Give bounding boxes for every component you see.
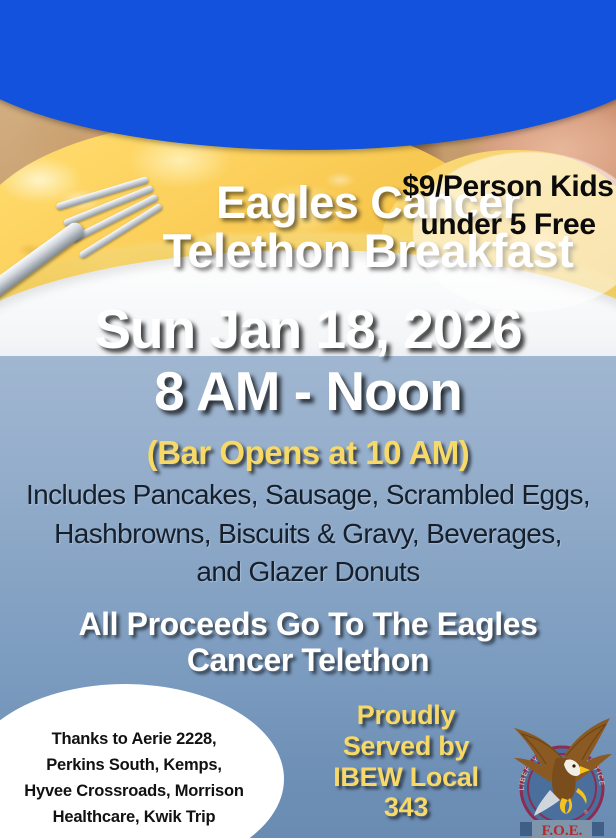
proceeds-line-2: Cancer Telethon bbox=[0, 642, 616, 678]
sponsors-line-1: Thanks to Aerie 2228, bbox=[0, 726, 268, 752]
served-by-block: Proudly Served by IBEW Local 343 bbox=[300, 700, 512, 823]
event-datetime: Sun Jan 18, 2026 8 AM - Noon bbox=[0, 302, 616, 419]
price-badge: $9/Person Kids under 5 Free bbox=[400, 168, 616, 245]
foe-eagle-emblem: LIBERTY TRUTH JUSTICE EQUALITY bbox=[508, 714, 616, 838]
kids-free-label: 5 Free bbox=[510, 208, 596, 241]
emblem-banner-text: F.O.E. bbox=[542, 823, 583, 838]
menu-description: Includes Pancakes, Sausage, Scrambled Eg… bbox=[0, 476, 616, 592]
price-per-person: $9/Person bbox=[402, 170, 542, 203]
svg-text:®: ® bbox=[584, 809, 588, 816]
menu-line-1: Includes Pancakes, Sausage, Scrambled Eg… bbox=[0, 476, 616, 515]
served-by-line-2: Served by bbox=[300, 731, 512, 762]
proceeds-statement: All Proceeds Go To The Eagles Cancer Tel… bbox=[0, 606, 616, 678]
sponsors-line-4: Healthcare, Kwik Trip bbox=[0, 804, 268, 830]
sponsors-list: Thanks to Aerie 2228, Perkins South, Kem… bbox=[0, 726, 268, 830]
sponsors-line-2: Perkins South, Kemps, bbox=[0, 752, 268, 778]
event-time: 8 AM - Noon bbox=[0, 364, 616, 419]
bar-opening-note: (Bar Opens at 10 AM) bbox=[0, 434, 616, 472]
sponsors-line-3: Hyvee Crossroads, Morrison bbox=[0, 778, 268, 804]
served-by-line-1: Proudly bbox=[300, 700, 512, 731]
served-by-line-3: IBEW Local bbox=[300, 762, 512, 793]
event-date: Sun Jan 18, 2026 bbox=[0, 302, 616, 357]
flyer-poster: Eagles Cancer Telethon Breakfast $9/Pers… bbox=[0, 0, 616, 838]
proceeds-line-1: All Proceeds Go To The Eagles bbox=[0, 606, 616, 642]
served-by-line-4: 343 bbox=[300, 792, 512, 823]
menu-line-3: and Glazer Donuts bbox=[0, 553, 616, 592]
menu-line-2: Hashbrowns, Biscuits & Gravy, Beverages, bbox=[0, 515, 616, 554]
header-banner bbox=[0, 0, 616, 150]
